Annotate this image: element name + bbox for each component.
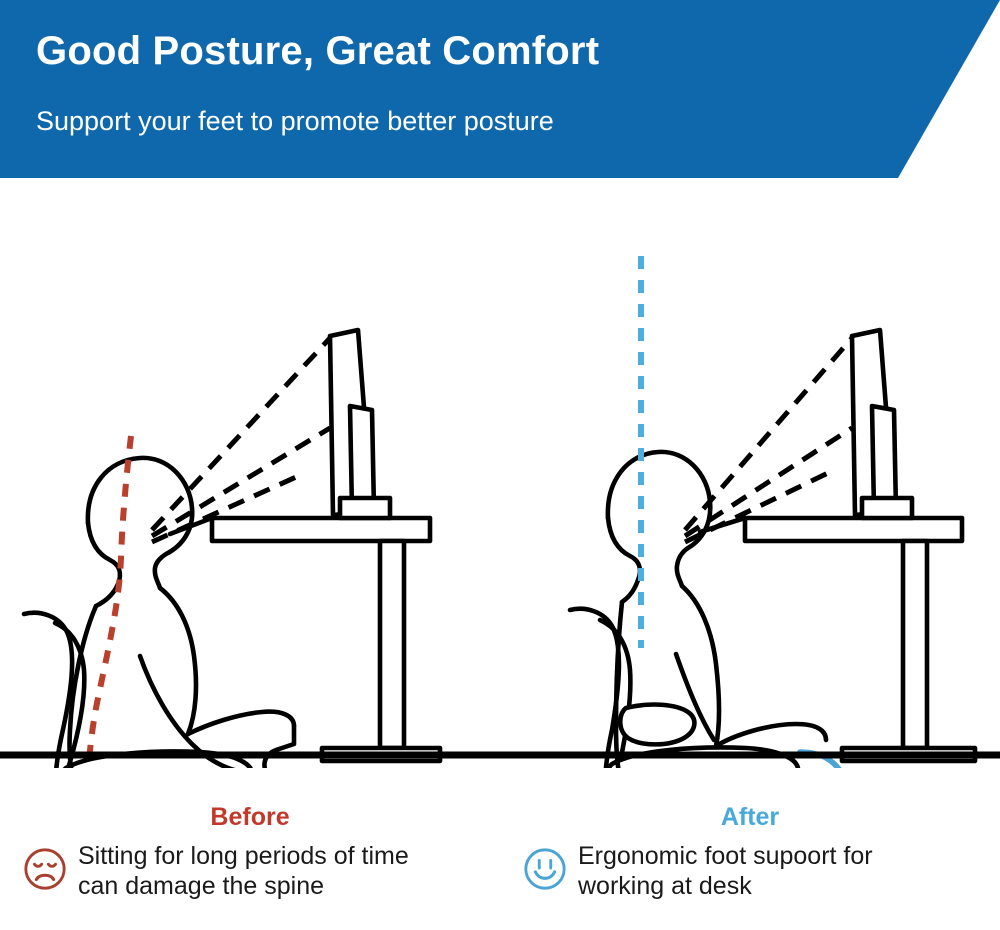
banner-text-group: Good Posture, Great Comfort Support your…	[36, 0, 916, 178]
caption-column-before: Before Sitting for long periods of time …	[0, 790, 500, 930]
before-sight-lines	[152, 338, 330, 542]
before-caption-row: Sitting for long periods of time can dam…	[22, 842, 500, 901]
before-office-chair	[7, 613, 252, 768]
after-label: After	[500, 805, 1000, 830]
before-description: Sitting for long periods of time can dam…	[78, 842, 409, 901]
after-caption-row: Ergonomic foot supoort for working at de…	[522, 842, 1000, 901]
before-monitor	[330, 330, 390, 518]
before-desk	[212, 518, 440, 761]
after-description: Ergonomic foot supoort for working at de…	[578, 842, 873, 901]
sad-face-icon	[22, 846, 68, 892]
happy-face-icon	[522, 846, 568, 892]
header-banner: Good Posture, Great Comfort Support your…	[0, 0, 1000, 178]
posture-comparison-illustration: .ln{fill:none;stroke:#000;stroke-width:4…	[0, 178, 1000, 768]
caption-column-after: After Ergonomic foot supoort for working…	[500, 790, 1000, 930]
page-subtitle: Support your feet to promote better post…	[36, 108, 554, 135]
page-title: Good Posture, Great Comfort	[36, 31, 599, 71]
before-panel-figure	[7, 330, 440, 768]
caption-section: Before Sitting for long periods of time …	[0, 790, 1000, 930]
after-monitor	[852, 330, 912, 518]
illustration-canvas: .ln{fill:none;stroke:#000;stroke-width:4…	[0, 178, 1000, 768]
before-person	[70, 458, 295, 768]
before-label: Before	[0, 805, 500, 830]
after-office-chair	[555, 609, 798, 768]
after-panel-figure	[555, 256, 975, 768]
